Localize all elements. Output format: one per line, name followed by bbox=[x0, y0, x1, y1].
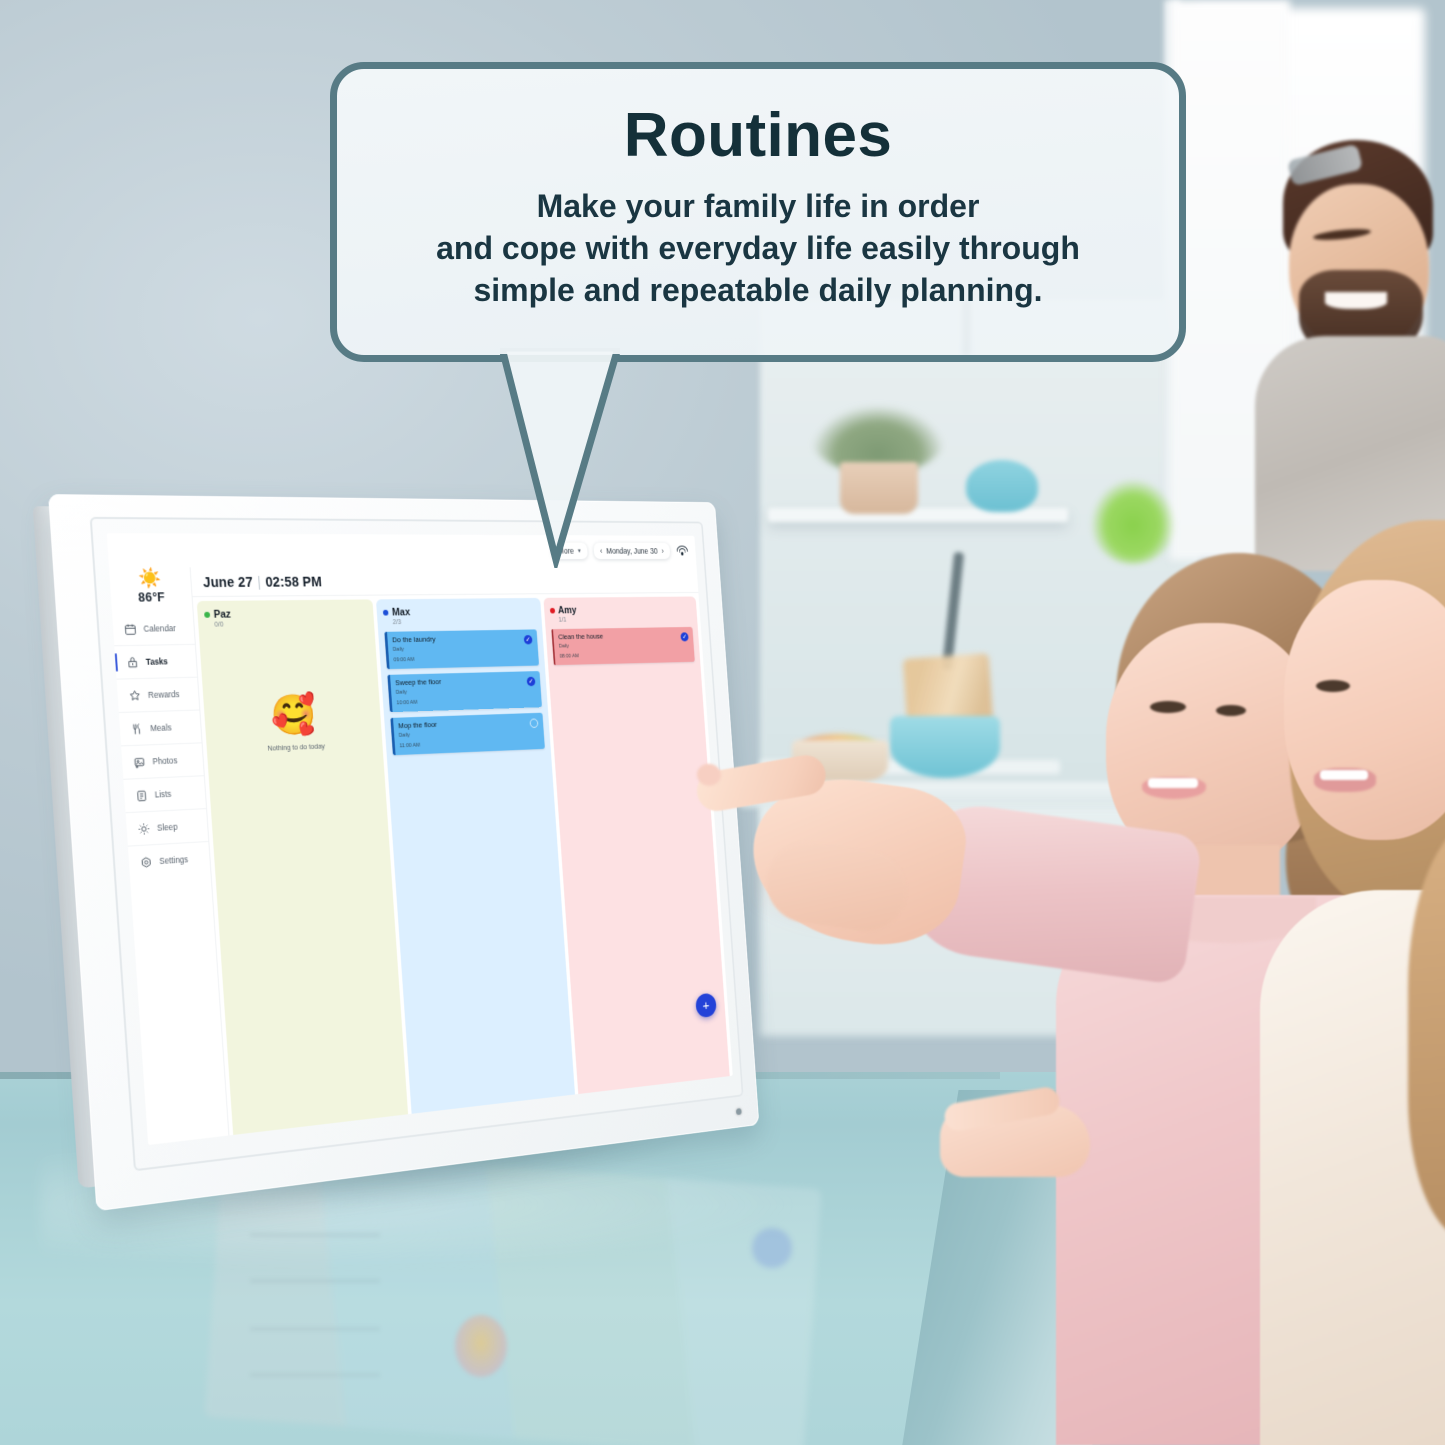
empty-state: 🥰 Nothing to do today bbox=[210, 692, 377, 755]
promo-subtitle-line-3: simple and repeatable daily planning. bbox=[436, 269, 1080, 311]
task-checkbox-checked-icon[interactable]: ✓ bbox=[680, 632, 688, 641]
member-task-count: 1/1 bbox=[558, 615, 692, 623]
younger-girl-teeth bbox=[1320, 770, 1368, 780]
task-checkbox-empty-icon[interactable] bbox=[529, 719, 538, 729]
member-name: Max bbox=[392, 607, 411, 619]
lists-clipboard-icon bbox=[135, 788, 149, 802]
sidebar-item-sleep[interactable]: Sleep bbox=[126, 808, 209, 846]
task-text: Clean the house Daily 08:00 AM bbox=[558, 632, 682, 661]
rewards-star-icon bbox=[128, 689, 142, 702]
page-title: Routines bbox=[624, 103, 892, 169]
sidebar-item-label: Meals bbox=[150, 723, 172, 733]
date-time-separator: | bbox=[257, 573, 261, 589]
task-repeat: Daily bbox=[559, 641, 682, 650]
father-smile bbox=[1325, 292, 1387, 309]
device-screen[interactable]: More ▾ ‹ Monday, June 30 › ☀️ 86°F bbox=[107, 533, 733, 1145]
sun-icon: ☀️ bbox=[109, 569, 191, 589]
member-status-dot bbox=[550, 608, 555, 614]
tasks-main-panel: June 27 | 02:58 PM Paz 0/0 bbox=[191, 566, 733, 1135]
task-card[interactable]: Do the laundry Daily 09:00 AM ✓ bbox=[385, 629, 539, 669]
task-text: Sweep the floor Daily 10:00 AM bbox=[395, 676, 528, 707]
member-status-dot bbox=[204, 612, 210, 618]
reflection-sidebar-items bbox=[250, 1215, 380, 1395]
date-time-header: June 27 | 02:58 PM bbox=[191, 566, 699, 597]
add-task-icon[interactable]: + bbox=[695, 993, 717, 1018]
photos-add-icon bbox=[133, 755, 147, 769]
task-card[interactable]: Clean the house Daily 08:00 AM ✓ bbox=[551, 627, 695, 665]
calendar-icon bbox=[124, 622, 138, 635]
blue-teapot bbox=[966, 460, 1038, 512]
member-task-count: 0/0 bbox=[214, 620, 368, 629]
today-date: June 27 bbox=[202, 574, 253, 590]
sidebar-item-rewards[interactable]: Rewards bbox=[116, 677, 199, 712]
task-checkbox-checked-icon[interactable]: ✓ bbox=[526, 677, 535, 687]
sidebar-item-settings[interactable]: Settings bbox=[128, 841, 211, 879]
younger-girl-hand-on-counter bbox=[940, 1085, 1100, 1195]
sidebar-item-label: Lists bbox=[155, 789, 172, 799]
promo-subtitle-line-2: and cope with everyday life easily throu… bbox=[436, 227, 1080, 269]
task-title: Do the laundry bbox=[392, 634, 524, 644]
member-column-max[interactable]: Max 2/3 Do the laundry Daily 09:00 AM ✓ bbox=[376, 598, 574, 1114]
task-text: Do the laundry Daily 09:00 AM bbox=[392, 634, 525, 664]
promo-subtitle: Make your family life in order and cope … bbox=[436, 185, 1080, 312]
task-time: 10:00 AM bbox=[396, 696, 528, 707]
member-name: Paz bbox=[213, 609, 231, 621]
task-card[interactable]: Mop the floor Daily 11:00 AM bbox=[391, 713, 545, 756]
plant-pot bbox=[840, 462, 918, 514]
sidebar-item-label: Rewards bbox=[148, 690, 180, 700]
younger-girl-figure bbox=[1280, 520, 1445, 1445]
smiling-face-with-hearts-icon: 🥰 bbox=[210, 692, 376, 740]
reflection-fab bbox=[752, 1228, 792, 1268]
weather-widget[interactable]: ☀️ 86°F bbox=[109, 567, 193, 613]
empty-state-text: Nothing to do today bbox=[213, 740, 377, 755]
task-repeat: Daily bbox=[396, 686, 528, 697]
task-title: Sweep the floor bbox=[395, 676, 527, 687]
member-columns: Paz 0/0 🥰 Nothing to do today bbox=[193, 593, 733, 1136]
older-girl-teeth bbox=[1148, 778, 1198, 788]
member-header: Amy bbox=[549, 604, 691, 617]
task-time: 08:00 AM bbox=[559, 651, 682, 661]
sidebar-item-label: Photos bbox=[152, 756, 177, 766]
meals-cutlery-icon bbox=[130, 722, 144, 736]
current-time: 02:58 PM bbox=[265, 573, 322, 589]
older-girl-eye-right bbox=[1216, 705, 1246, 716]
task-text: Mop the floor Daily 11:00 AM bbox=[398, 718, 531, 750]
task-title: Clean the house bbox=[558, 632, 681, 641]
member-header: Paz bbox=[204, 607, 368, 621]
sidebar-item-label: Calendar bbox=[143, 624, 176, 633]
younger-girl-face bbox=[1284, 580, 1445, 840]
member-name: Amy bbox=[558, 605, 577, 616]
temperature-label: 86°F bbox=[111, 590, 193, 605]
wifi-icon bbox=[676, 545, 688, 557]
task-card[interactable]: Sweep the floor Daily 10:00 AM ✓ bbox=[388, 671, 542, 712]
promo-speech-bubble: Routines Make your family life in order … bbox=[330, 62, 1186, 362]
tasks-icon bbox=[126, 655, 140, 668]
task-checkbox-checked-icon[interactable]: ✓ bbox=[523, 635, 532, 644]
sleep-brightness-icon bbox=[137, 822, 151, 836]
kitchen-shelf-upper bbox=[768, 508, 1068, 522]
father-figure bbox=[1255, 140, 1445, 570]
member-header: Max bbox=[383, 605, 535, 618]
member-status-dot bbox=[383, 610, 389, 616]
sidebar-item-label: Tasks bbox=[145, 657, 168, 666]
blue-bowl bbox=[890, 716, 1000, 778]
sidebar-item-photos[interactable]: Photos bbox=[121, 742, 204, 778]
member-task-count: 2/3 bbox=[393, 617, 536, 626]
sidebar-item-lists[interactable]: Lists bbox=[123, 775, 206, 812]
older-girl-eye-left bbox=[1150, 701, 1186, 713]
sidebar-item-tasks[interactable]: Tasks bbox=[114, 644, 197, 679]
device-frame: More ▾ ‹ Monday, June 30 › ☀️ 86°F bbox=[48, 494, 759, 1211]
sidebar-item-meals[interactable]: Meals bbox=[119, 709, 202, 745]
member-column-paz[interactable]: Paz 0/0 🥰 Nothing to do today bbox=[197, 599, 409, 1135]
sidebar-item-label: Settings bbox=[159, 855, 188, 866]
screen-body: ☀️ 86°F Calendar Tasks bbox=[109, 566, 733, 1145]
next-day-button[interactable]: › bbox=[661, 546, 664, 555]
status-led bbox=[736, 1108, 742, 1115]
sidebar-item-label: Sleep bbox=[157, 822, 178, 832]
task-time: 09:00 AM bbox=[393, 654, 525, 664]
speech-bubble-tail bbox=[500, 348, 620, 568]
reflection-emoji bbox=[455, 1315, 507, 1377]
younger-girl-eye bbox=[1316, 680, 1350, 692]
settings-gear-icon bbox=[139, 855, 153, 869]
smart-display-device[interactable]: More ▾ ‹ Monday, June 30 › ☀️ 86°F bbox=[48, 494, 759, 1211]
member-column-amy[interactable]: Amy 1/1 Clean the house Daily 08:00 AM ✓ bbox=[543, 596, 730, 1094]
task-repeat: Daily bbox=[393, 644, 525, 654]
sidebar-item-calendar[interactable]: Calendar bbox=[112, 612, 195, 645]
task-time: 11:00 AM bbox=[399, 738, 531, 750]
promo-subtitle-line-1: Make your family life in order bbox=[436, 185, 1080, 227]
